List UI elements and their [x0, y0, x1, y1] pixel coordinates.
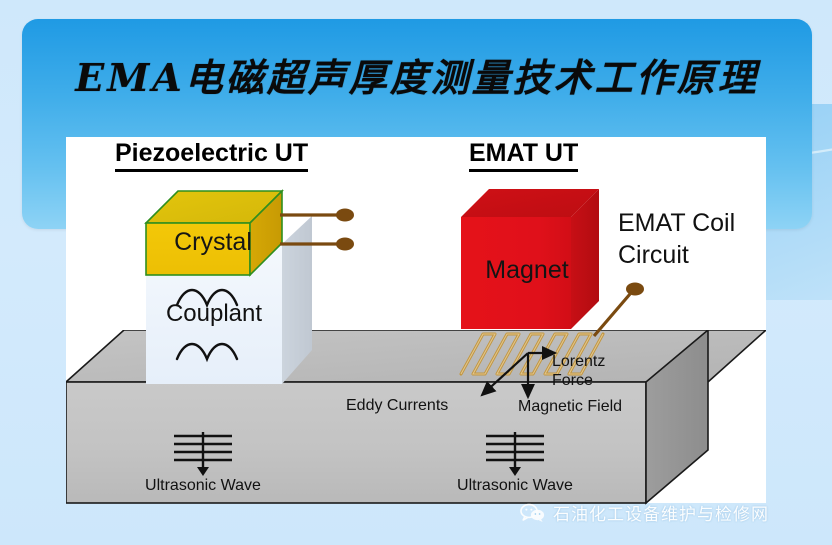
ultrasonic-wave-left-label: Ultrasonic Wave [118, 477, 288, 495]
page-title: EMA电磁超声厚度测量技术工作原理 [22, 19, 812, 129]
crystal-label: Crystal [148, 228, 278, 257]
emat-coil-lead-wire [590, 278, 650, 345]
couplant-label: Couplant [146, 300, 282, 328]
heading-emat-ut: EMAT UT [469, 139, 578, 172]
ultrasonic-wave-right-label: Ultrasonic Wave [430, 477, 600, 495]
piezo-lead-wires [280, 195, 370, 270]
lorentz-force-label: Lorentz Force [552, 352, 605, 390]
eddy-currents-label: Eddy Currents [346, 397, 448, 415]
lorentz-force-line2: Force [552, 371, 605, 390]
watermark: 石油化工设备维护与检修网 [520, 500, 769, 525]
slide-canvas: EMA电磁超声厚度测量技术工作原理 Piezoelectric UT EMAT … [0, 0, 832, 545]
ultrasonic-wave-icon [166, 430, 240, 476]
ultrasonic-wave-icon [478, 430, 552, 476]
couplant-wave-icon-bottom [146, 337, 282, 368]
ultrasonic-wave-right: Ultrasonic Wave [430, 430, 600, 495]
lorentz-force-line1: Lorentz [552, 352, 605, 371]
magnet-label: Magnet [462, 256, 592, 285]
watermark-text: 石油化工设备维护与检修网 [553, 500, 769, 525]
emat-coil-circuit-label: EMAT Coil Circuit [618, 207, 788, 271]
heading-piezoelectric-ut: Piezoelectric UT [115, 139, 308, 172]
magnetic-field-label: Magnetic Field [518, 398, 622, 416]
wechat-icon [520, 503, 546, 523]
ultrasonic-wave-left: Ultrasonic Wave [118, 430, 288, 495]
emat-coil-circuit-text: EMAT Coil Circuit [618, 209, 735, 269]
